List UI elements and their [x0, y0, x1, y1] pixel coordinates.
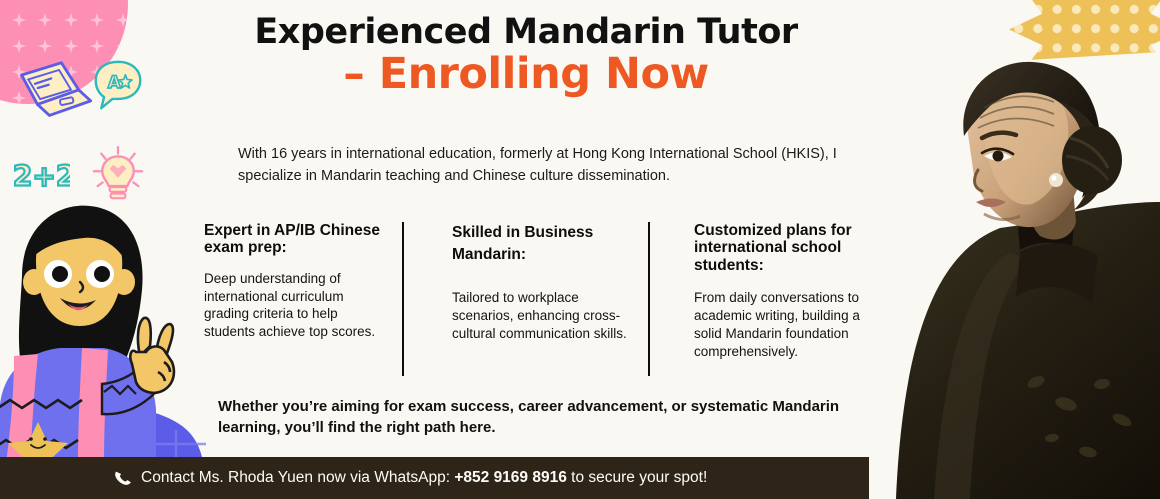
feature-title-1: Expert in AP/IB Chinese exam prep: [204, 222, 382, 257]
aplus-speech-bubble-icon: A [92, 58, 144, 112]
feature-column-2: Skilled in Business Mandarin: Tailored t… [404, 222, 650, 380]
cartoon-student-illustration [0, 196, 206, 499]
contact-bar: Contact Ms. Rhoda Yuen now via WhatsApp:… [0, 457, 869, 499]
contact-suffix: to secure your spot! [567, 469, 707, 487]
feature-column-1: Expert in AP/IB Chinese exam prep: Deep … [204, 222, 404, 380]
aplus-label: A [108, 72, 121, 92]
promotional-banner: A 2+2 [0, 0, 1160, 499]
headline-accent: – Enrolling Now [186, 52, 866, 97]
feature-body-1: Deep understanding of international curr… [204, 270, 382, 341]
feature-body-2: Tailored to workplace scenarios, enhanci… [452, 289, 628, 342]
tutor-portrait-photo [860, 52, 1160, 499]
contact-text: Contact Ms. Rhoda Yuen now via WhatsApp:… [113, 469, 707, 487]
laptop-doodle-icon [8, 58, 94, 124]
phone-receiver-icon [113, 469, 133, 487]
math-2plus2-doodle: 2+2 [12, 152, 70, 194]
lightbulb-doodle-icon [92, 145, 144, 205]
feature-title-2: Skilled in Business Mandarin: [452, 222, 628, 267]
math-label: 2+2 [13, 160, 70, 193]
pink-star-pattern-blob [0, 0, 128, 104]
headline-main: Experienced Mandarin Tutor [186, 14, 866, 50]
closing-statement: Whether you’re aiming for exam success, … [218, 396, 858, 439]
contact-phone-number[interactable]: +852 9169 8916 [454, 469, 567, 487]
headline-block: Experienced Mandarin Tutor – Enrolling N… [186, 14, 866, 97]
feature-body-3: From daily conversations to academic wri… [694, 289, 882, 360]
feature-columns: Expert in AP/IB Chinese exam prep: Deep … [204, 222, 904, 380]
feature-title-3: Customized plans for international schoo… [694, 222, 882, 274]
intro-paragraph: With 16 years in international education… [238, 143, 848, 188]
contact-prefix: Contact Ms. Rhoda Yuen now via WhatsApp: [141, 469, 454, 487]
